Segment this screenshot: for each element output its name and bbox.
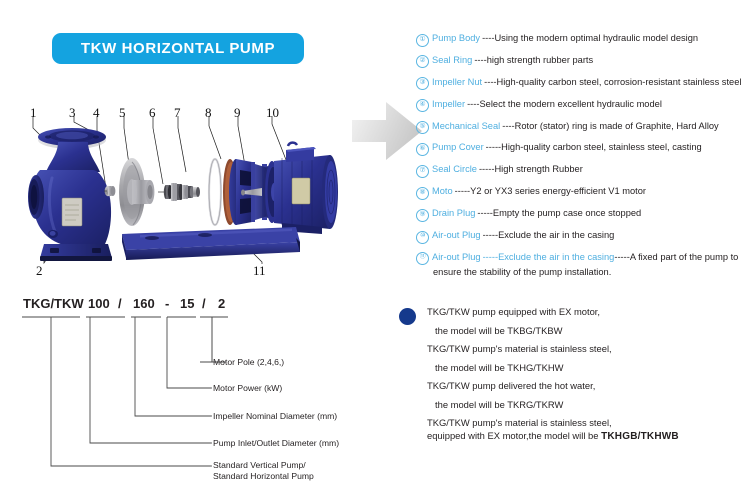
legend-dash: ----- [455, 186, 470, 197]
legend-item: ② Seal Ring ---- high strength rubber pa… [416, 55, 754, 69]
legend-dash: ---- [467, 99, 479, 110]
callout-number: 1 [30, 105, 37, 121]
legend-label: Pump Body [432, 33, 480, 44]
legend-number: ② [416, 55, 429, 68]
nomenclature-label: Standard Vertical Pump/ [213, 460, 306, 471]
callout-number: 9 [234, 105, 241, 121]
nomenclature-label: Motor Pole (2,4,6,) [213, 357, 284, 368]
exploded-pump-diagram [0, 92, 400, 287]
legend-item: ⑧ Moto ----- Y2 or YX3 series energy-eff… [416, 186, 754, 200]
callout-number: 8 [205, 105, 212, 121]
legend-item: ③ Impeller Nut ---- High-quality carbon … [416, 77, 754, 91]
legend-desc: high strength rubber parts [487, 55, 593, 66]
legend-item: ④ Impeller ---- Select the modern excell… [416, 99, 754, 113]
legend-dash: ----- [483, 230, 498, 241]
legend-label: Pump Cover [432, 142, 484, 153]
model-nomenclature: TKG/TKW 100 / 160 - 15 / 2 [0, 296, 400, 496]
callout-number: 11 [253, 263, 266, 279]
legend-number: ⑩ [416, 231, 429, 244]
legend-dash: ---- [502, 121, 514, 132]
legend-number: ④ [416, 99, 429, 112]
legend-dash: ---- [474, 55, 486, 66]
legend-desc: High-quality carbon steel, stainless ste… [501, 142, 702, 153]
legend-desc: Exclude the air in the casing [498, 230, 614, 241]
legend-number: ⑥ [416, 143, 429, 156]
legend-dash: ----- [477, 208, 492, 219]
callout-number: 6 [149, 105, 156, 121]
legend-item-last: ⑪ Air-out Plug ----- Exclude the air in … [416, 252, 754, 279]
legend-number: ⑦ [416, 165, 429, 178]
model-variants-block: TKG/TKW pump equipped with EX motor, the… [399, 306, 749, 449]
legend-label: Impeller Nut [432, 77, 482, 88]
callout-number: 7 [174, 105, 181, 121]
legend-number: ⑧ [416, 187, 429, 200]
legend-dash: ---- [484, 77, 496, 88]
legend-desc-tail: -----A fixed part of the pump to [614, 252, 738, 263]
variant-final-model: TKHGB/TKHWB [601, 431, 679, 442]
title-banner: TKW HORIZONTAL PUMP [52, 33, 304, 64]
legend-item: ⑥ Pump Cover ----- High-quality carbon s… [416, 142, 754, 156]
variant-line: TKG/TKW pump equipped with EX motor, [427, 306, 749, 317]
legend-label: Drain Plug [432, 208, 475, 219]
legend-number: ⑤ [416, 121, 429, 134]
callout-number: 10 [266, 105, 279, 121]
legend-dash: ----- [483, 252, 498, 263]
legend-desc: High-quality carbon steel, corrosion-res… [497, 77, 742, 88]
legend-label: Air-out Plug [432, 252, 481, 263]
parts-legend-list: ① Pump Body ---- Using the modern optima… [416, 33, 754, 287]
callout-number: 4 [93, 105, 100, 121]
variant-line: the model will be TKBG/TKBW [435, 325, 749, 336]
legend-desc: Rotor (stator) ring is made of Graphite,… [515, 121, 719, 132]
legend-label: Impeller [432, 99, 465, 110]
page-root: TKW HORIZONTAL PUMP [0, 0, 756, 500]
legend-desc: Using the modern optimal hydraulic model… [494, 33, 698, 44]
legend-item: ① Pump Body ---- Using the modern optima… [416, 33, 754, 47]
nomenclature-label: Standard Horizontal Pump [213, 471, 314, 482]
legend-number: ③ [416, 77, 429, 90]
variants-lines: TKG/TKW pump equipped with EX motor, the… [427, 306, 749, 442]
variant-line: TKG/TKW pump delivered the hot water, [427, 380, 749, 391]
legend-dash: ---- [482, 33, 494, 44]
legend-desc-blue: Exclude the air in the casing [498, 252, 614, 263]
variant-final-line2: equipped with EX motor,the model will be… [427, 430, 749, 442]
legend-item: ⑩ Air-out Plug ----- Exclude the air in … [416, 230, 754, 244]
legend-item: ⑤ Mechanical Seal ---- Rotor (stator) ri… [416, 121, 754, 135]
right-arrow-icon [352, 96, 424, 166]
callout-number: 5 [119, 105, 126, 121]
legend-number: ⑪ [416, 252, 429, 265]
variant-final-prefix: equipped with EX motor,the model will be [427, 430, 601, 441]
callout-number: 2 [36, 263, 43, 279]
legend-label: Air-out Plug [432, 230, 481, 241]
legend-desc: Select the modern excellent hydraulic mo… [479, 99, 661, 110]
variant-line: the model will be TKRG/TKRW [435, 399, 749, 410]
callout-number: 3 [69, 105, 76, 121]
legend-item: ⑨ Drain Plug ----- Empty the pump case o… [416, 208, 754, 222]
legend-desc: High strength Rubber [494, 164, 582, 175]
bullet-dot-icon [399, 308, 416, 325]
legend-desc-line2: ensure the stability of the pump install… [416, 267, 754, 278]
legend-label: Moto [432, 186, 453, 197]
variant-line: the model will be TKHG/TKHW [435, 362, 749, 373]
variant-line: TKG/TKW pump's material is stainless ste… [427, 343, 749, 354]
legend-dash: ----- [479, 164, 494, 175]
legend-item: ⑦ Seal Circle ----- High strength Rubber [416, 164, 754, 178]
legend-label: Mechanical Seal [432, 121, 500, 132]
title-banner-text: TKW HORIZONTAL PUMP [81, 40, 275, 57]
nomenclature-label: Impeller Nominal Diameter (mm) [213, 411, 337, 422]
nomenclature-label: Motor Power (kW) [213, 383, 282, 394]
legend-label: Seal Circle [432, 164, 477, 175]
legend-dash: ----- [486, 142, 501, 153]
nomenclature-label: Pump Inlet/Outlet Diameter (mm) [213, 438, 339, 449]
nomenclature-leader-lines [0, 296, 400, 496]
legend-number: ① [416, 34, 429, 47]
legend-desc: Empty the pump case once stopped [493, 208, 641, 219]
legend-desc: Y2 or YX3 series energy-efficient V1 mot… [470, 186, 646, 197]
legend-number: ⑨ [416, 209, 429, 222]
legend-label: Seal Ring [432, 55, 472, 66]
variant-final-line1: TKG/TKW pump's material is stainless ste… [427, 417, 749, 428]
